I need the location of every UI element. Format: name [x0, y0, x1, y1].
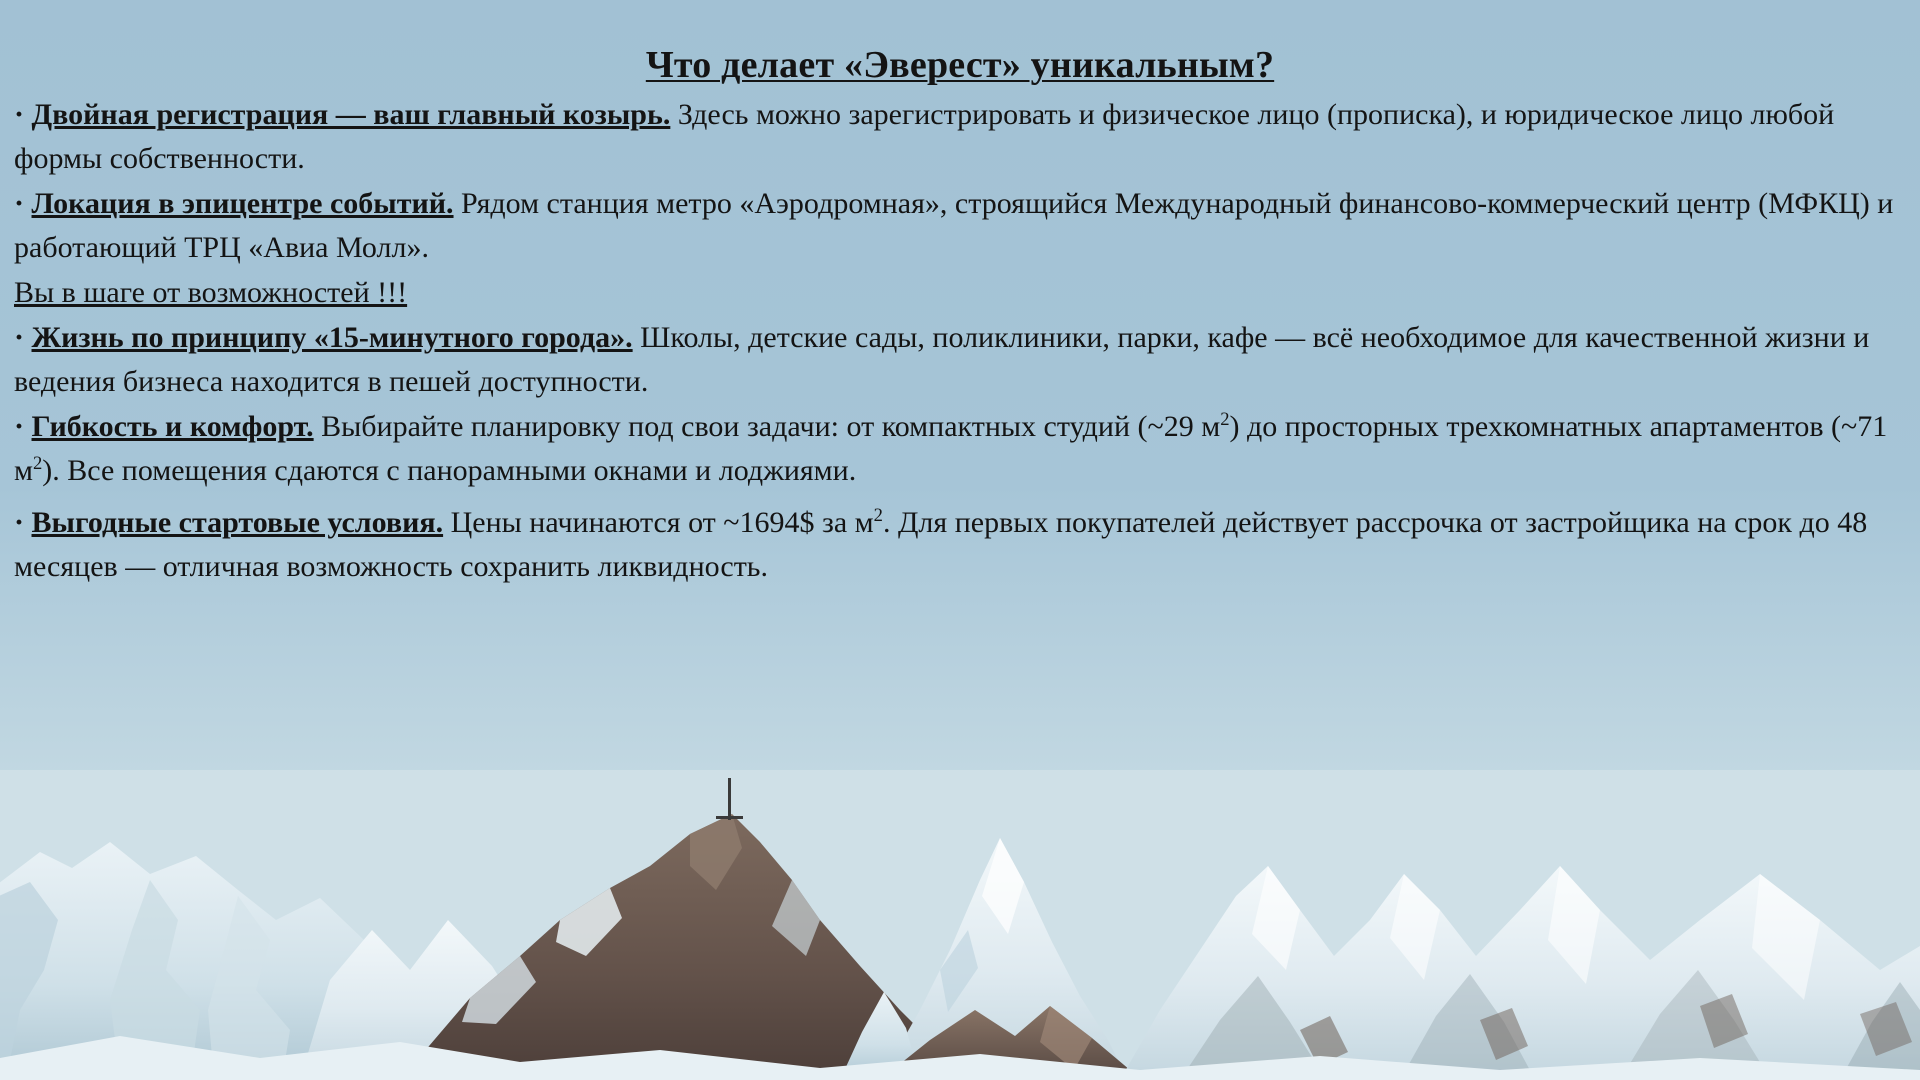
bullet-flexibility-comfort: · Гибкость и комфорт. Выбирайте планиров… — [14, 405, 1906, 493]
location-tagline-text: Вы в шаге от возможностей !!! — [14, 276, 407, 309]
bullet-lead: Гибкость и комфорт. — [32, 410, 314, 443]
spacer — [14, 494, 1906, 501]
bullet-body-part-1: Выбирайте планировку под свои задачи: от… — [314, 410, 1221, 443]
bullet-marker: · — [14, 506, 24, 539]
bullet-location: · Локация в эпицентре событий. Рядом ста… — [14, 182, 1906, 270]
bullet-body-part-1: Цены начинаются от ~1694$ за м — [443, 506, 874, 539]
bullet-lead: Двойная регистрация — ваш главный козырь… — [32, 98, 671, 131]
page-title-text: Что делает «Эверест» уникальным? — [646, 44, 1274, 86]
bullet-marker: · — [14, 98, 24, 131]
bullet-fifteen-minute-city: · Жизнь по принципу «15-минутного города… — [14, 316, 1906, 404]
bullet-lead: Жизнь по принципу «15-минутного города». — [32, 321, 633, 354]
mountain-range-illustration — [0, 770, 1920, 1080]
bullet-marker: · — [14, 321, 24, 354]
square-meter-superscript: 2 — [33, 453, 42, 474]
bullet-body-part-3: ). Все помещения сдаются с панорамными о… — [42, 454, 856, 487]
presentation-slide: Что делает «Эверест» уникальным? · Двойн… — [0, 0, 1920, 1080]
bullet-marker: · — [14, 410, 24, 443]
location-tagline: Вы в шаге от возможностей !!! — [14, 271, 1906, 315]
mountain-photo — [0, 770, 1920, 1080]
bullet-marker: · — [14, 187, 24, 220]
square-meter-superscript: 2 — [874, 505, 883, 526]
bullet-starting-conditions: · Выгодные стартовые условия. Цены начин… — [14, 501, 1906, 589]
bullet-lead: Выгодные стартовые условия. — [32, 506, 444, 539]
square-meter-superscript: 2 — [1220, 409, 1229, 430]
slide-content: Что делает «Эверест» уникальным? · Двойн… — [0, 0, 1920, 591]
page-title: Что делает «Эверест» уникальным? — [14, 44, 1906, 87]
bullet-dual-registration: · Двойная регистрация — ваш главный козы… — [14, 93, 1906, 181]
bullet-lead: Локация в эпицентре событий. — [32, 187, 454, 220]
